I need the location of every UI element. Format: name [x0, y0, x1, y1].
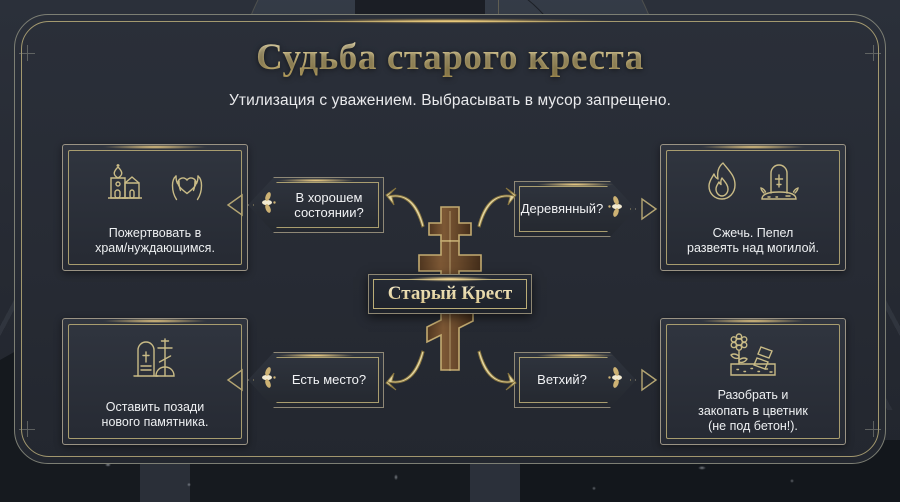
decision-decayed[interactable]: Ветхий? — [514, 352, 636, 408]
arrow-head-right-top — [632, 196, 658, 222]
outcome-caption: Пожертвовать в храм/нуждающимся. — [73, 226, 237, 257]
cross-mark-ornament-icon — [19, 421, 35, 437]
decision-label: Ветхий? — [531, 372, 593, 387]
flame-icon — [702, 159, 742, 205]
arrow-head-left-bottom — [226, 367, 252, 393]
outcome-icons — [63, 333, 247, 379]
outcome-caption: Сжечь. Пепел развеять над могилой. — [671, 226, 835, 257]
cross-mark-ornament-icon — [865, 421, 881, 437]
center-label-plate[interactable]: Старый Крест — [368, 274, 532, 314]
outcome-box-donate[interactable]: Пожертвовать в храм/нуждающимся. — [62, 144, 248, 271]
heart-in-hands-icon — [164, 160, 210, 204]
monument-with-cross-icon — [118, 332, 192, 380]
plate-glow — [390, 275, 510, 283]
decision-label: Есть место? — [286, 372, 372, 387]
arrow-head-left-top — [226, 192, 252, 218]
outcome-box-burn[interactable]: Сжечь. Пепел развеять над могилой. — [660, 144, 846, 271]
decision-good-condition[interactable]: В хорошем состоянии? — [248, 177, 384, 233]
banner-glow — [261, 177, 371, 184]
decision-wooden[interactable]: Деревянный? — [514, 181, 636, 237]
leaf-ornament-icon — [606, 194, 628, 225]
box-top-glow — [80, 143, 230, 151]
box-top-glow — [80, 317, 230, 325]
outcome-box-leave-behind[interactable]: Оставить позади нового памятника. — [62, 318, 248, 445]
outcome-box-bury-in-flowerbed[interactable]: Разобрать и закопать в цветник (не под б… — [660, 318, 846, 445]
page-title: Судьба старого креста — [0, 36, 900, 79]
broken-planks-icon — [754, 347, 772, 369]
page-subtitle: Утилизация с уважением. Выбрасывать в му… — [0, 92, 900, 110]
church-icon — [100, 160, 150, 204]
decision-label: В хорошем состоянии? — [275, 190, 383, 221]
decision-space-available[interactable]: Есть место? — [248, 352, 384, 408]
leaf-ornament-icon — [606, 365, 628, 396]
outcome-icons — [661, 333, 845, 379]
flower-in-soil-icon — [717, 333, 789, 379]
outcome-caption: Оставить позади нового памятника. — [73, 400, 237, 431]
panel-top-glow — [215, 16, 685, 26]
outcome-icons — [661, 159, 845, 205]
outcome-icons — [63, 159, 247, 205]
box-top-glow — [678, 143, 828, 151]
center-label: Старый Крест — [388, 283, 512, 305]
banner-glow — [261, 352, 371, 359]
outcome-caption: Разобрать и закопать в цветник (не под б… — [671, 388, 835, 435]
arrow-head-right-bottom — [632, 367, 658, 393]
box-top-glow — [678, 317, 828, 325]
decision-label: Деревянный? — [515, 201, 610, 216]
gravestone-icon — [756, 159, 804, 205]
leaf-ornament-icon — [256, 365, 278, 396]
